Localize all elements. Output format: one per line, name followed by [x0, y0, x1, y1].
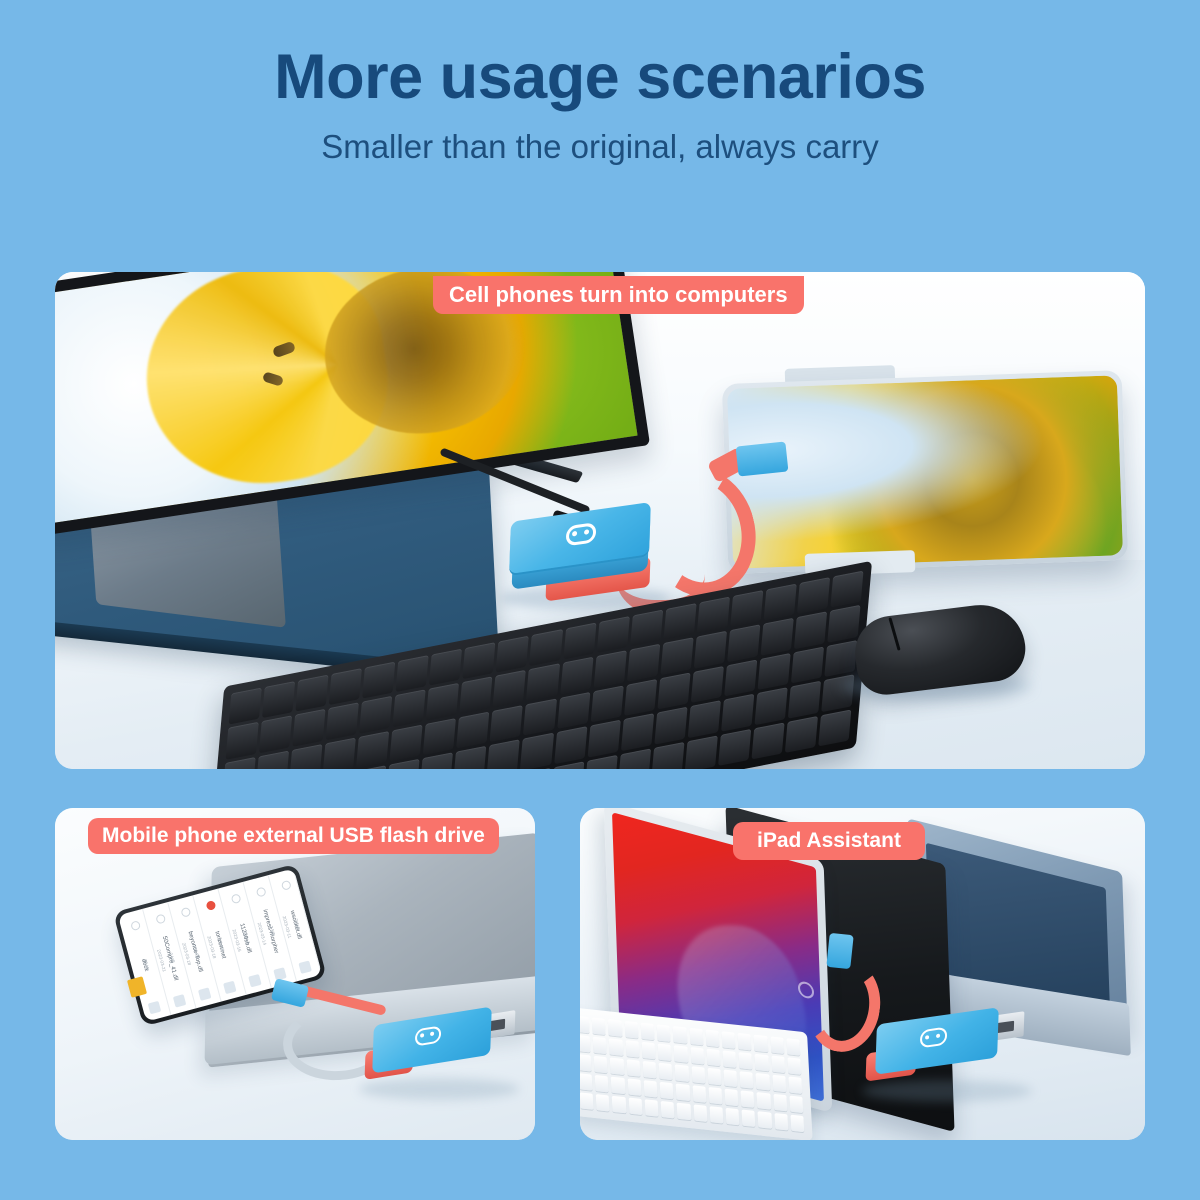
keyboard-key: [786, 1038, 800, 1056]
keyboard-key: [659, 1063, 673, 1081]
logo-ring: [920, 1027, 948, 1049]
keyboard-key: [788, 681, 821, 718]
keyboard-key: [423, 718, 456, 755]
keyboard-key: [673, 1026, 687, 1044]
keyboard-key: [460, 677, 493, 714]
keyboard-key: [593, 651, 626, 688]
keyboard-key: [596, 1094, 610, 1112]
keyboard-key: [593, 1037, 607, 1055]
keyboard-key: [624, 1021, 638, 1039]
file-size: 2 MB: [169, 952, 177, 963]
keyboard-key: [641, 1042, 655, 1060]
keyboard-key: [625, 1040, 639, 1058]
keyboard-key: [560, 657, 593, 694]
keyboard-key: [590, 685, 623, 722]
keyboard-key: [790, 1115, 804, 1133]
keyboard-key: [788, 1076, 802, 1094]
keyboard-key: [724, 1089, 738, 1107]
keyboard-key: [818, 709, 851, 746]
keyboard-key: [323, 737, 356, 769]
keyboard-key: [326, 703, 359, 740]
file-type-icon: [248, 974, 261, 987]
keyboard-key: [697, 597, 730, 634]
keyboard-key: [684, 735, 717, 769]
keyboard-key: [725, 1108, 739, 1126]
keyboard-key: [429, 649, 462, 686]
keyboard-key: [722, 1050, 736, 1068]
keyboard-key: [676, 1084, 690, 1102]
keyboard-key: [741, 1090, 755, 1108]
keyboard-key: [626, 1059, 640, 1077]
keyboard-key: [630, 610, 663, 647]
file-type-icon: [198, 987, 211, 1000]
keyboard-key: [608, 1019, 622, 1037]
keyboard-key: [657, 672, 690, 709]
file-select-checkbox[interactable]: [130, 920, 141, 931]
file-type-icon: [223, 981, 236, 994]
usb-c-plug: [736, 441, 789, 476]
keyboard-key: [797, 577, 830, 614]
keyboard-key: [493, 670, 526, 707]
keyboard-key: [657, 1024, 671, 1042]
keyboard-key: [687, 700, 720, 737]
keyboard-key: [262, 681, 295, 718]
keyboard-key: [718, 729, 751, 766]
badge-ipad-assistant: iPad Assistant: [733, 822, 925, 860]
keyboard-key: [757, 1092, 771, 1110]
keyboard-key: [830, 571, 863, 608]
keyboard-key: [627, 644, 660, 681]
keyboard-key: [359, 696, 392, 733]
header: More usage scenarios Smaller than the or…: [0, 0, 1200, 166]
keyboard-key: [642, 1061, 656, 1079]
keyboard-key: [612, 1096, 626, 1114]
logo-ring: [566, 522, 597, 546]
keyboard-key: [674, 1045, 688, 1063]
keyboard-key: [259, 716, 292, 753]
keyboard-key: [824, 640, 857, 677]
keyboard-key: [594, 1056, 608, 1074]
keyboard-key: [256, 750, 289, 769]
keyboard-key: [580, 1035, 591, 1053]
product-marketing-page: More usage scenarios Smaller than the or…: [0, 0, 1200, 1200]
keyboard-key: [595, 1075, 609, 1093]
keyboard-key: [627, 1078, 641, 1096]
keyboard-key: [563, 623, 596, 660]
keyboard-key: [487, 739, 520, 769]
keyboard-key: [742, 1110, 756, 1128]
desktop-scene-image: ?: [55, 272, 1145, 769]
keyboard-key: [663, 603, 696, 640]
keyboard-key: [827, 605, 860, 642]
keyboard-key: [580, 1054, 592, 1072]
keyboard-key: [789, 1096, 803, 1114]
device-shadow: [359, 1078, 519, 1100]
keyboard-key: [226, 722, 259, 759]
keyboard-key: [660, 638, 693, 675]
keyboard-key: [738, 1033, 752, 1051]
keyboard-key: [661, 1101, 675, 1119]
file-select-checkbox[interactable]: [180, 907, 191, 918]
keyboard-key: [651, 742, 684, 769]
smartphone-screen: [727, 375, 1123, 569]
usb-scene-image: docx2023-03-2116 kB50Compre_41.dll2023-0…: [55, 808, 535, 1140]
keyboard-key: [390, 724, 423, 761]
keyboard-key: [755, 1054, 769, 1072]
keyboard-key: [641, 1023, 655, 1041]
keyboard-key: [356, 731, 389, 768]
keyboard-key: [628, 1098, 642, 1116]
keyboard-key: [690, 1047, 704, 1065]
keyboard-key: [453, 746, 486, 769]
usb-adapter-device: [510, 512, 660, 602]
file-size: 71 kB: [294, 918, 302, 930]
file-select-checkbox[interactable]: [155, 913, 166, 924]
keyboard-key: [520, 733, 553, 769]
file-type-icon: [298, 960, 311, 973]
keyboard-key: [292, 709, 325, 746]
keyboard-key: [643, 1080, 657, 1098]
keyboard-key: [490, 705, 523, 742]
keyboard-key: [724, 659, 757, 696]
page-subtitle: Smaller than the original, always carry: [0, 128, 1200, 166]
keyboard-key: [757, 653, 790, 690]
keyboard-key: [426, 683, 459, 720]
keyboard-key: [644, 1099, 658, 1117]
keyboard-key: [787, 1057, 801, 1075]
keyboard-key: [754, 1035, 768, 1053]
keyboard-key: [763, 584, 796, 621]
keyboard-key: [694, 631, 727, 668]
keyboard-keys: [580, 1016, 804, 1132]
keyboard-key: [692, 1085, 706, 1103]
keyboard-key: [727, 625, 760, 662]
keyboard-key: [730, 590, 763, 627]
keyboard-key: [587, 720, 620, 757]
keyboard-key: [420, 752, 453, 769]
keyboard-key: [751, 722, 784, 759]
keyboard-key: [691, 666, 724, 703]
keyboard-key: [709, 1106, 723, 1124]
keyboard-key: [580, 1092, 594, 1110]
keyboard-key: [523, 698, 556, 735]
smartphone: [722, 370, 1128, 574]
keyboard-key: [721, 694, 754, 731]
keyboard-key: [393, 690, 426, 727]
file-size: 16 kB: [143, 958, 151, 970]
keyboard-key: [654, 707, 687, 744]
keyboard-key: [660, 1082, 674, 1100]
keyboard-key: [554, 726, 587, 763]
keyboard-key: [754, 687, 787, 724]
keyboard-key: [295, 675, 328, 712]
keyboard-key: [739, 1052, 753, 1070]
keyboard-key: [693, 1104, 707, 1122]
keyboard-key: [706, 1049, 720, 1067]
keyboard-key: [557, 692, 590, 729]
keyboard-key: [618, 748, 651, 769]
keyboard-key: [621, 713, 654, 750]
file-type-icon: [173, 994, 186, 1007]
keyboard-key: [610, 1058, 624, 1076]
keyboard-key: [675, 1064, 689, 1082]
keyboard-key: [773, 1094, 787, 1112]
keyboard-key: [740, 1071, 754, 1089]
keyboard-key: [457, 711, 490, 748]
keyboard-key: [362, 662, 395, 699]
file-select-checkbox[interactable]: [231, 893, 242, 904]
keyboard-key: [785, 716, 818, 753]
keyboard-key: [705, 1030, 719, 1048]
logo-ring: [415, 1025, 442, 1046]
keyboard-key: [580, 1073, 593, 1091]
scenario-panel-usb-flash-drive: docx2023-03-2116 kB50Compre_41.dll2023-0…: [55, 808, 535, 1140]
badge-mobile-phone-external-usb-flash-drive: Mobile phone external USB flash drive: [88, 818, 499, 854]
file-select-checkbox[interactable]: [205, 900, 216, 911]
keyboard-key: [708, 1087, 722, 1105]
keyboard-key: [723, 1070, 737, 1088]
keyboard-key: [609, 1038, 623, 1056]
keyboard-key: [526, 664, 559, 701]
usb-adapter-device: [876, 1016, 1026, 1102]
keyboard-key: [774, 1113, 788, 1131]
keyboard-key: [329, 668, 362, 705]
file-type-icon: [148, 1001, 161, 1014]
keyboard-key: [772, 1075, 786, 1093]
keyboard-key: [707, 1068, 721, 1086]
keyboard-key: [624, 679, 657, 716]
keyboard-key: [756, 1073, 770, 1091]
keyboard-key: [689, 1028, 703, 1046]
page-title: More usage scenarios: [0, 44, 1200, 110]
keyboard-key: [596, 616, 629, 653]
keyboard-key: [721, 1031, 735, 1049]
keyboard-key: [580, 1016, 590, 1034]
keyboard-key: [758, 1111, 772, 1129]
keyboard-key: [677, 1103, 691, 1121]
keyboard-key: [396, 655, 429, 692]
file-select-checkbox[interactable]: [256, 887, 267, 898]
keyboard-key: [463, 642, 496, 679]
keyboard-key: [770, 1036, 784, 1054]
keyboard-key: [229, 688, 262, 725]
file-size: 2 MB: [269, 925, 277, 936]
scenario-panel-desktop: ?: [55, 272, 1145, 769]
device-shadow: [862, 1080, 1032, 1102]
keyboard-key: [529, 629, 562, 666]
keyboard-key: [611, 1077, 625, 1095]
usb-adapter-device: [373, 1016, 513, 1100]
badge-cell-phones-turn-into-computers: Cell phones turn into computers: [433, 276, 804, 314]
keyboard-key: [691, 1066, 705, 1084]
keyboard-key: [658, 1044, 672, 1062]
keyboard-key: [794, 612, 827, 649]
keyboard-key: [592, 1018, 606, 1036]
keyboard-key: [760, 618, 793, 655]
keyboard-key: [791, 646, 824, 683]
keyboard-key: [496, 636, 529, 673]
keyboard-key: [771, 1056, 785, 1074]
file-select-checkbox[interactable]: [281, 880, 292, 891]
keyboard-key: [289, 744, 322, 769]
